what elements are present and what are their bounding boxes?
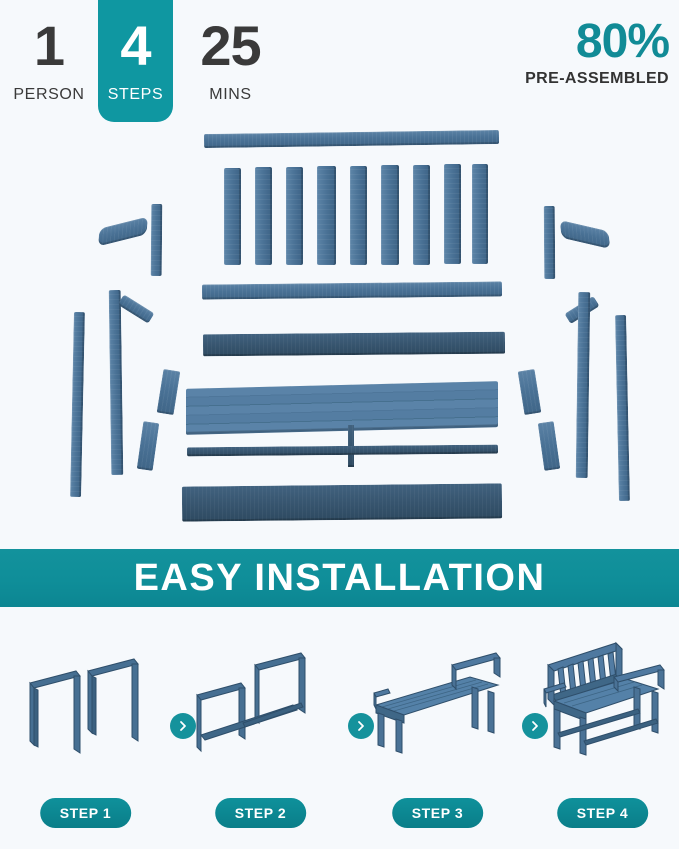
step-3-label[interactable]: STEP 3 <box>392 798 484 828</box>
part-front-apron <box>182 483 502 521</box>
part-leg <box>70 312 85 497</box>
part-arm-support <box>118 294 155 323</box>
part-bracket <box>137 421 160 471</box>
step-3-illustration <box>360 643 515 763</box>
pre-assembled-caption: PRE-ASSEMBLED <box>525 70 669 88</box>
step-cell-3[interactable]: STEP 3 <box>360 615 515 849</box>
stat-steps: 4 STEPS <box>98 0 173 122</box>
banner-title: EASY INSTALLATION <box>134 557 546 600</box>
part-leg <box>544 206 556 279</box>
part-bracket <box>538 421 561 471</box>
part-back-support-rail <box>203 332 505 357</box>
product-infographic: 1 PERSON 4 STEPS 25 MINS 80% PRE-ASSEMBL… <box>0 0 679 849</box>
part-back-slat <box>350 166 367 265</box>
exploded-parts-diagram <box>0 120 679 545</box>
part-leg <box>576 292 591 478</box>
part-back-slat <box>413 165 430 265</box>
part-top-rail <box>204 130 499 148</box>
part-seat-panel <box>186 381 498 435</box>
stat-mins-number: 25 <box>200 18 260 74</box>
steps-strip: STEP 1 <box>0 615 679 849</box>
part-leg <box>615 315 630 501</box>
step-4-label[interactable]: STEP 4 <box>557 798 649 828</box>
part-leg <box>151 204 163 276</box>
stat-person: 1 PERSON <box>8 0 90 122</box>
step-2-illustration <box>183 643 338 763</box>
stat-steps-number: 4 <box>120 18 150 74</box>
step-cell-2[interactable]: STEP 2 <box>183 615 338 849</box>
step-1-label[interactable]: STEP 1 <box>40 798 132 828</box>
step-1-illustration <box>8 643 163 763</box>
part-leg <box>109 290 124 475</box>
part-back-slat <box>286 167 303 265</box>
part-bracket <box>157 369 181 415</box>
stat-person-label: PERSON <box>13 86 84 104</box>
stat-person-number: 1 <box>34 18 64 74</box>
part-armrest <box>98 217 148 247</box>
part-bracket <box>518 369 542 415</box>
part-back-support-rail <box>202 281 502 299</box>
step-cell-1[interactable]: STEP 1 <box>8 615 163 849</box>
part-back-slat <box>444 164 461 264</box>
part-armrest <box>560 220 610 249</box>
stat-steps-label: STEPS <box>108 86 163 104</box>
step-4-illustration <box>530 629 675 763</box>
part-back-slat <box>255 167 272 265</box>
part-lower-rail <box>187 445 498 457</box>
part-back-slat <box>381 165 399 265</box>
pre-assembled-badge: 80% PRE-ASSEMBLED <box>525 18 669 88</box>
step-2-label[interactable]: STEP 2 <box>215 798 307 828</box>
part-back-slat <box>224 168 241 265</box>
pre-assembled-percent: 80% <box>525 18 669 66</box>
step-cell-4[interactable]: STEP 4 <box>530 615 675 849</box>
easy-installation-banner: EASY INSTALLATION <box>0 549 679 607</box>
stat-mins: 25 MINS <box>183 0 278 122</box>
part-back-slat <box>317 166 336 265</box>
part-back-slat <box>472 164 488 264</box>
stat-mins-label: MINS <box>209 86 251 104</box>
